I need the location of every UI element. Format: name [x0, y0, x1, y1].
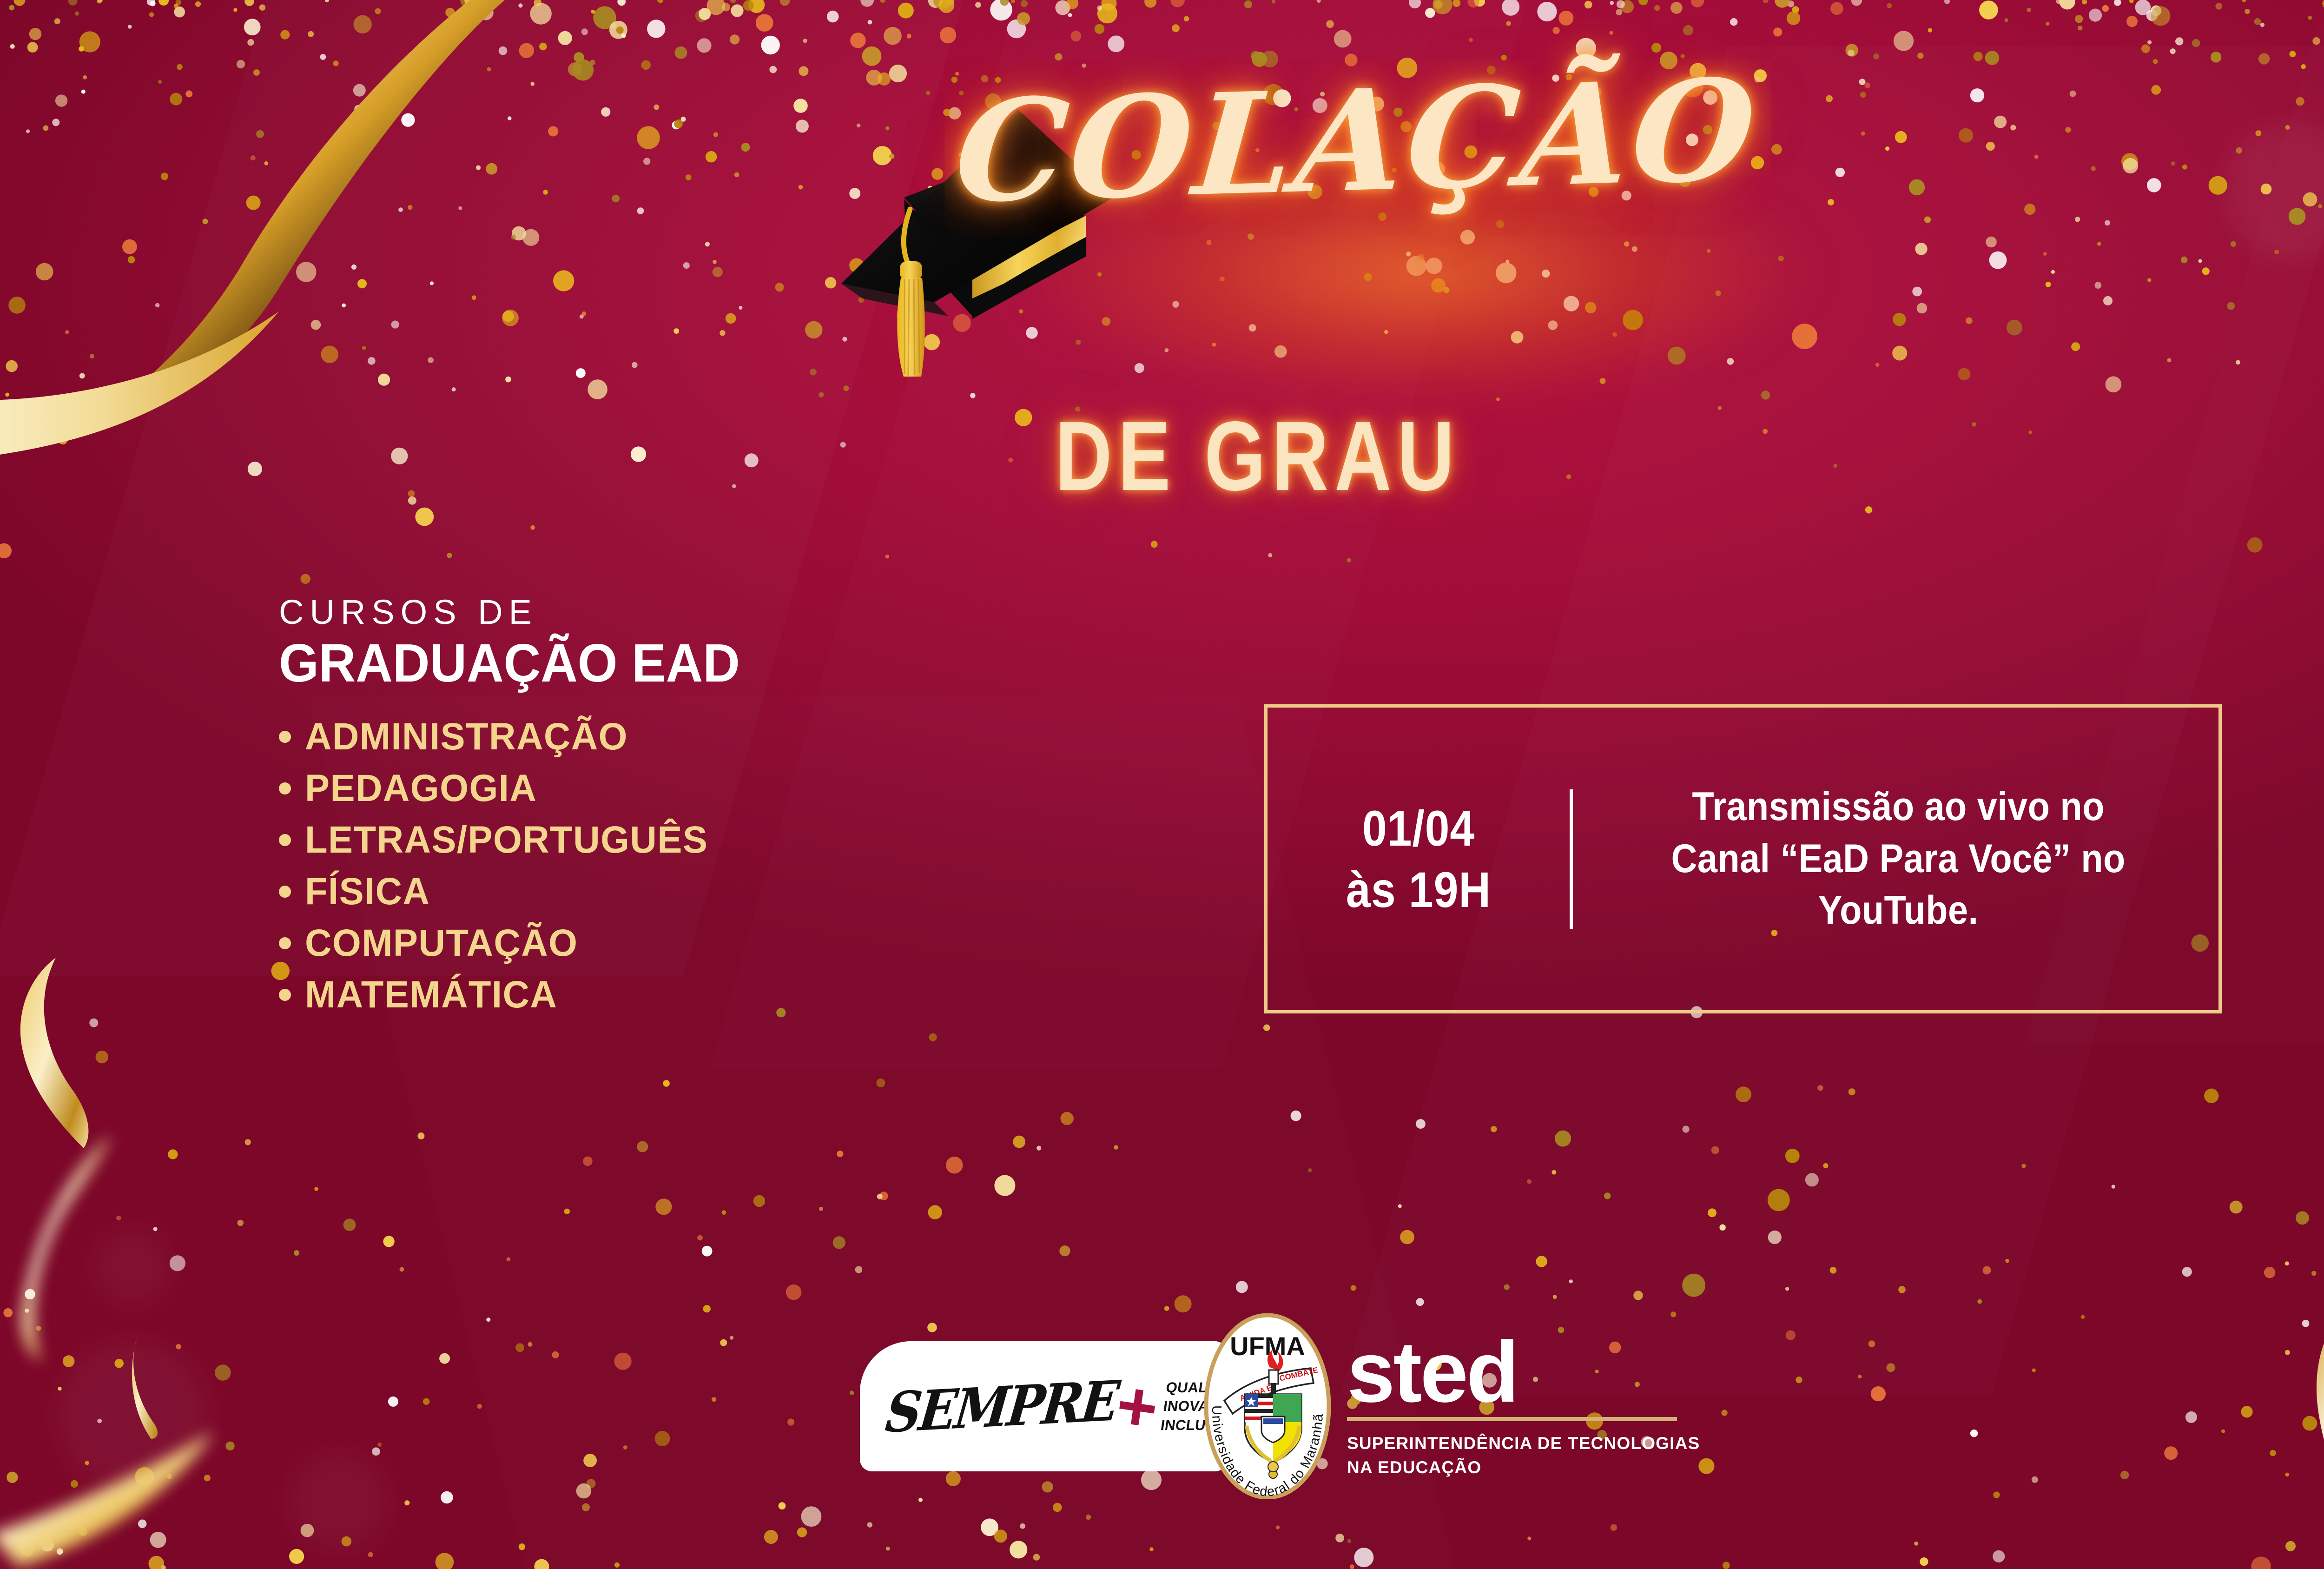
sted-wordmark: sted: [1347, 1335, 1700, 1410]
title-glow: [860, 84, 1975, 502]
gold-streamer-bottom-left: [0, 1125, 390, 1569]
sted-subtitle-line-2: NA EDUCAÇÃO: [1347, 1456, 1700, 1480]
sted-subtitle-line-1: SUPERINTENDÊNCIA DE TECNOLOGIAS: [1347, 1431, 1700, 1456]
title-subhead: DE GRAU: [1055, 407, 1460, 505]
broadcast-line-1: Transmissão ao vivo no: [1629, 781, 2168, 833]
course-list-item: MATEMÁTICA: [279, 975, 1208, 1015]
bullet-icon: [279, 782, 291, 794]
ufma-acronym: UFMA: [1230, 1331, 1305, 1361]
gold-ribbon-curl-left: [14, 953, 112, 1153]
broadcast-line-3: YouTube.: [1629, 885, 2168, 937]
sempre-plus-icon: +: [1114, 1383, 1160, 1430]
bokeh-blob: [2222, 121, 2324, 260]
poster-canvas: COLAÇÃO DE GRAU CURSOS DE GRADUAÇÃO EAD …: [0, 0, 2324, 1569]
course-list-item: LETRAS/PORTUGUÊS: [279, 820, 1208, 861]
course-list-item: ADMINISTRAÇÃO: [279, 717, 1208, 757]
bullet-icon: [279, 937, 291, 949]
courses-section: CURSOS DE GRADUAÇÃO EAD ADMINISTRAÇÃO PE…: [279, 595, 1208, 1026]
bokeh-blob: [288, 1450, 390, 1553]
graduation-cap-icon: [809, 84, 1116, 409]
course-list-item: FÍSICA: [279, 872, 1208, 912]
gold-ribbon-bottom-right: [2305, 1153, 2324, 1569]
bullet-icon: [279, 989, 291, 1001]
sted-logo: sted SUPERINTENDÊNCIA DE TECNOLOGIAS NA …: [1347, 1332, 1700, 1480]
courses-eyebrow: CURSOS DE: [279, 595, 1208, 629]
sempre-mais-logo: SEMPRE + QUALIDADE INOVAÇÃO INCLUSÃO: [860, 1341, 1227, 1471]
info-divider: [1570, 789, 1573, 929]
course-label: PEDAGOGIA: [305, 768, 537, 809]
sempre-wordmark: SEMPRE: [883, 1368, 1121, 1445]
event-time: às 19H: [1286, 859, 1552, 920]
course-list-item: PEDAGOGIA: [279, 768, 1208, 809]
event-date: 01/04: [1286, 798, 1552, 859]
broadcast-line-2: Canal “EaD Para Você” no: [1629, 833, 2168, 885]
event-date-block: 01/04 às 19H: [1286, 798, 1552, 920]
course-label: MATEMÁTICA: [305, 975, 557, 1015]
course-label: ADMINISTRAÇÃO: [305, 717, 628, 757]
sted-subtitle: SUPERINTENDÊNCIA DE TECNOLOGIAS NA EDUCA…: [1347, 1431, 1700, 1480]
course-label: COMPUTAÇÃO: [305, 923, 578, 964]
ufma-seal-logo: UFMA A VIDA É COMBATE: [1200, 1313, 1335, 1499]
gold-ribbon-top-left: [0, 0, 516, 456]
bokeh-blob: [56, 1339, 209, 1492]
event-info-box: 01/04 às 19H Transmissão ao vivo no Cana…: [1264, 704, 2222, 1013]
bokeh-blob: [93, 1227, 172, 1306]
course-label: LETRAS/PORTUGUÊS: [305, 820, 708, 861]
gold-ribbon-small-left: [125, 1334, 186, 1441]
bullet-icon: [279, 886, 291, 898]
bullet-icon: [279, 834, 291, 846]
courses-heading: GRADUAÇÃO EAD: [279, 636, 1162, 690]
bullet-icon: [279, 731, 291, 743]
course-list-item: COMPUTAÇÃO: [279, 923, 1208, 964]
title-block: COLAÇÃO DE GRAU: [0, 28, 2324, 549]
course-label: FÍSICA: [305, 872, 430, 912]
footer-logos: SEMPRE + QUALIDADE INOVAÇÃO INCLUSÃO UFM…: [860, 1297, 1952, 1516]
title-script: COLAÇÃO: [951, 59, 1940, 218]
broadcast-info: Transmissão ao vivo no Canal “EaD Para V…: [1607, 781, 2186, 937]
